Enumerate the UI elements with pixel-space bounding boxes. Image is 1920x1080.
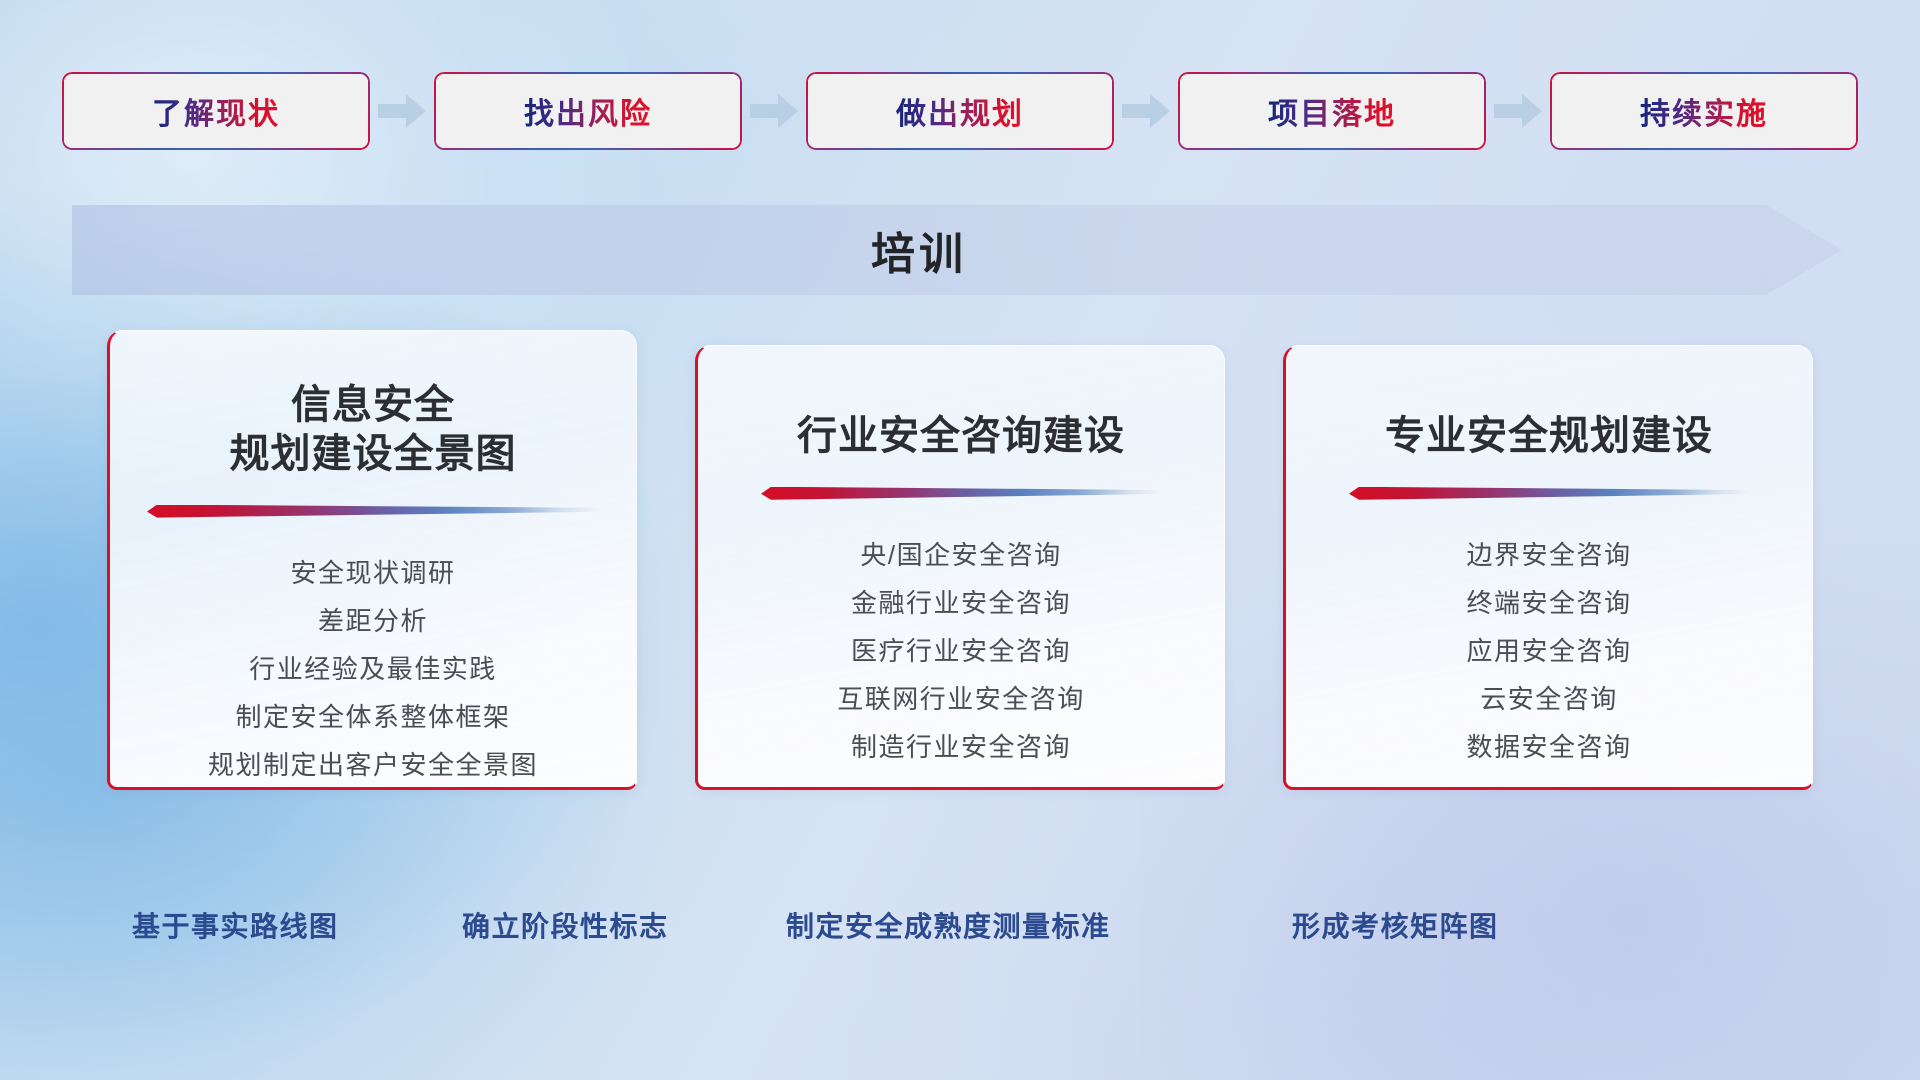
step-label-4: 项目落地	[1268, 89, 1396, 133]
service-card-2-list: 央/国企安全咨询 金融行业安全咨询 医疗行业安全咨询 互联网行业安全咨询 制造行…	[724, 531, 1198, 771]
list-item: 央/国企安全咨询	[724, 531, 1198, 579]
step-label-2: 找出风险	[524, 89, 652, 133]
step-box-5-inner: 持续实施	[1552, 74, 1856, 148]
gradient-divider-line	[761, 487, 1161, 501]
step-box-3[interactable]: 做出规划	[806, 72, 1114, 150]
service-card-3-list: 边界安全咨询 终端安全咨询 应用安全咨询 云安全咨询 数据安全咨询	[1312, 531, 1786, 771]
outcome-caption-3: 制定安全成熟度测量标准	[786, 905, 1111, 945]
step-label-5: 持续实施	[1640, 89, 1768, 133]
list-item: 差距分析	[136, 597, 610, 645]
outcome-caption-2: 确立阶段性标志	[462, 905, 669, 945]
step-box-1[interactable]: 了解现状	[62, 72, 370, 150]
list-item: 行业经验及最佳实践	[136, 645, 610, 693]
list-item: 医疗行业安全咨询	[724, 627, 1198, 675]
arrow-right-icon-2	[742, 91, 806, 131]
service-card-2-divider	[761, 487, 1161, 501]
service-card-3-title: 专业安全规划建设	[1312, 412, 1786, 461]
gradient-divider-line	[147, 505, 599, 519]
list-item: 互联网行业安全咨询	[724, 675, 1198, 723]
service-card-3[interactable]: 专业安全规划建设 边界安全咨询 终端安全咨询 应用安全咨询 云安全咨询 数据安全…	[1283, 345, 1813, 790]
service-card-1-title: 信息安全 规划建设全景图	[136, 381, 610, 479]
step-box-2[interactable]: 找出风险	[434, 72, 742, 150]
list-item: 制定安全体系整体框架	[136, 693, 610, 741]
list-item: 应用安全咨询	[1312, 627, 1786, 675]
service-card-1-list: 安全现状调研 差距分析 行业经验及最佳实践 制定安全体系整体框架 规划制定出客户…	[136, 549, 610, 789]
service-card-3-divider	[1349, 487, 1749, 501]
step-box-2-inner: 找出风险	[436, 74, 740, 148]
list-item: 安全现状调研	[136, 549, 610, 597]
outcome-caption-4: 形成考核矩阵图	[1292, 905, 1499, 945]
step-label-3: 做出规划	[896, 89, 1024, 133]
service-card-2[interactable]: 行业安全咨询建设 央/国企安全咨询 金融行业安全咨询 医疗行业安全咨询 互联网行…	[695, 345, 1225, 790]
step-box-1-inner: 了解现状	[64, 74, 368, 148]
step-box-4-inner: 项目落地	[1180, 74, 1484, 148]
outcome-caption-row: 基于事实路线图 确立阶段性标志 制定安全成熟度测量标准 形成考核矩阵图	[0, 905, 1920, 965]
step-box-3-inner: 做出规划	[808, 74, 1112, 148]
list-item: 规划制定出客户安全全景图	[136, 741, 610, 789]
step-box-5[interactable]: 持续实施	[1550, 72, 1858, 150]
step-box-4[interactable]: 项目落地	[1178, 72, 1486, 150]
service-card-1[interactable]: 信息安全 规划建设全景图 安全现状调研 差距分析 行业经验及最佳实践 制定安全体…	[107, 330, 637, 790]
arrow-right-icon-4	[1486, 91, 1550, 131]
list-item: 数据安全咨询	[1312, 723, 1786, 771]
service-card-group: 信息安全 规划建设全景图 安全现状调研 差距分析 行业经验及最佳实践 制定安全体…	[0, 330, 1920, 790]
gradient-divider-line	[1349, 487, 1749, 501]
list-item: 金融行业安全咨询	[724, 579, 1198, 627]
list-item: 终端安全咨询	[1312, 579, 1786, 627]
training-banner: 培训	[72, 205, 1842, 295]
list-item: 云安全咨询	[1312, 675, 1786, 723]
service-card-2-title: 行业安全咨询建设	[724, 412, 1198, 461]
process-step-flow: 了解现状 找出风险 做出规划 项目落地	[0, 72, 1920, 150]
arrow-right-icon-1	[370, 91, 434, 131]
step-label-1: 了解现状	[152, 89, 280, 133]
outcome-caption-1: 基于事实路线图	[132, 905, 339, 945]
arrow-right-icon-3	[1114, 91, 1178, 131]
service-card-1-divider	[147, 505, 599, 519]
list-item: 制造行业安全咨询	[724, 723, 1198, 771]
banner-title: 培训	[72, 205, 1842, 295]
list-item: 边界安全咨询	[1312, 531, 1786, 579]
